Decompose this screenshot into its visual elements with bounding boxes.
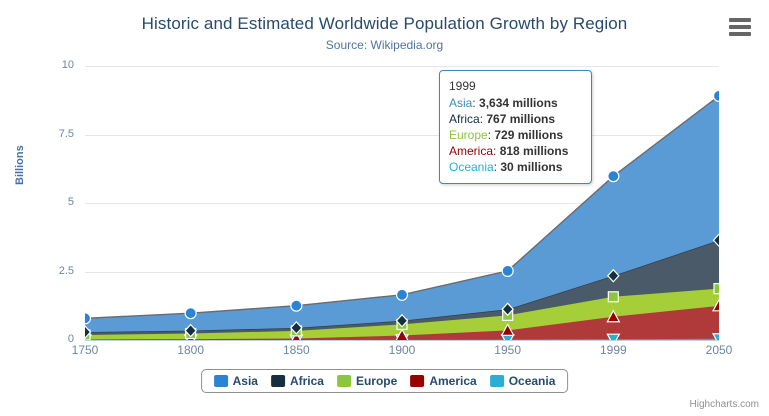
tooltip-series-name: Asia [449,96,472,110]
tooltip-separator: : [493,144,500,158]
legend-item-europe[interactable]: Europe [334,374,400,388]
tooltip-series-value: 3,634 millions [479,96,558,110]
y-axis-title: Billions [14,145,26,185]
plot-area [85,66,719,340]
marker-asia-1999[interactable] [608,171,619,182]
tooltip-series-value: 729 millions [494,128,563,142]
tooltip-series-name: Oceania [449,160,494,174]
legend-label: Africa [290,374,324,388]
marker-asia-1850[interactable] [291,300,302,311]
marker-asia-1950[interactable] [502,265,513,276]
tooltip-series-value: 767 millions [486,112,555,126]
legend-swatch-africa [271,375,285,387]
legend-item-oceania[interactable]: Oceania [487,374,559,388]
y-axis-tick-0: 0 [28,333,74,345]
menu-bar-3 [729,32,751,36]
tooltip-row-america: America: 818 millions [449,143,582,159]
x-axis-tick-1999: 1999 [600,343,627,357]
legend-swatch-asia [214,375,228,387]
tooltip-rows: Asia: 3,634 millionsAfrica: 767 millions… [449,95,582,175]
tooltip-row-africa: Africa: 767 millions [449,111,582,127]
legend-label: America [429,374,476,388]
tooltip-series-value: 30 millions [500,160,562,174]
x-axis-tick-1800: 1800 [177,343,204,357]
chart-subtitle: Source: Wikipedia.org [0,38,769,52]
tooltip-series-name: Europe [449,128,488,142]
tooltip-series-name: Africa [449,112,480,126]
tooltip-row-oceania: Oceania: 30 millions [449,159,582,175]
legend-swatch-america [410,375,424,387]
x-axis-labels: 1750180018501900195019992050 [85,343,719,363]
legend-item-africa[interactable]: Africa [268,374,327,388]
marker-asia-1800[interactable] [185,308,196,319]
x-axis-tick-1950: 1950 [494,343,521,357]
menu-bar-1 [729,18,751,22]
legend-label: Asia [233,374,258,388]
tooltip-header: 1999 [449,78,582,95]
legend-item-america[interactable]: America [407,374,479,388]
legend-swatch-oceania [490,375,504,387]
hamburger-menu-icon[interactable] [729,18,751,36]
tooltip-row-asia: Asia: 3,634 millions [449,95,582,111]
y-axis-tick-5: 5 [28,196,74,208]
legend-swatch-europe [337,375,351,387]
marker-europe-2050[interactable] [714,284,719,294]
chart-title: Historic and Estimated Worldwide Populat… [0,14,769,34]
tooltip: 1999 Asia: 3,634 millionsAfrica: 767 mil… [439,70,592,184]
legend-item-asia[interactable]: Asia [211,374,261,388]
gridline-0 [85,340,719,341]
tooltip-series-name: America [449,144,493,158]
highcharts-chart: Historic and Estimated Worldwide Populat… [0,0,769,416]
y-axis-tick-7.5: 7.5 [28,128,74,140]
marker-asia-2050[interactable] [714,90,720,101]
x-axis-tick-2050: 2050 [706,343,733,357]
y-axis-labels: 02.557.510 [28,66,74,340]
y-axis-tick-2.5: 2.5 [28,265,74,277]
y-axis-tick-10: 10 [28,59,74,71]
legend-label: Oceania [509,374,556,388]
x-axis-tick-1900: 1900 [389,343,416,357]
x-axis-tick-1750: 1750 [72,343,99,357]
tooltip-row-europe: Europe: 729 millions [449,127,582,143]
tooltip-separator: : [472,96,479,110]
credits-label: Highcharts.com [690,399,759,410]
tooltip-series-value: 818 millions [500,144,569,158]
chart-legend: AsiaAfricaEuropeAmericaOceania [201,369,569,393]
series-areas [85,66,719,340]
legend-label: Europe [356,374,397,388]
marker-europe-1999[interactable] [608,292,618,302]
menu-bar-2 [729,25,751,29]
x-axis-tick-1850: 1850 [283,343,310,357]
marker-asia-1750[interactable] [85,313,91,324]
marker-asia-1900[interactable] [397,289,408,300]
